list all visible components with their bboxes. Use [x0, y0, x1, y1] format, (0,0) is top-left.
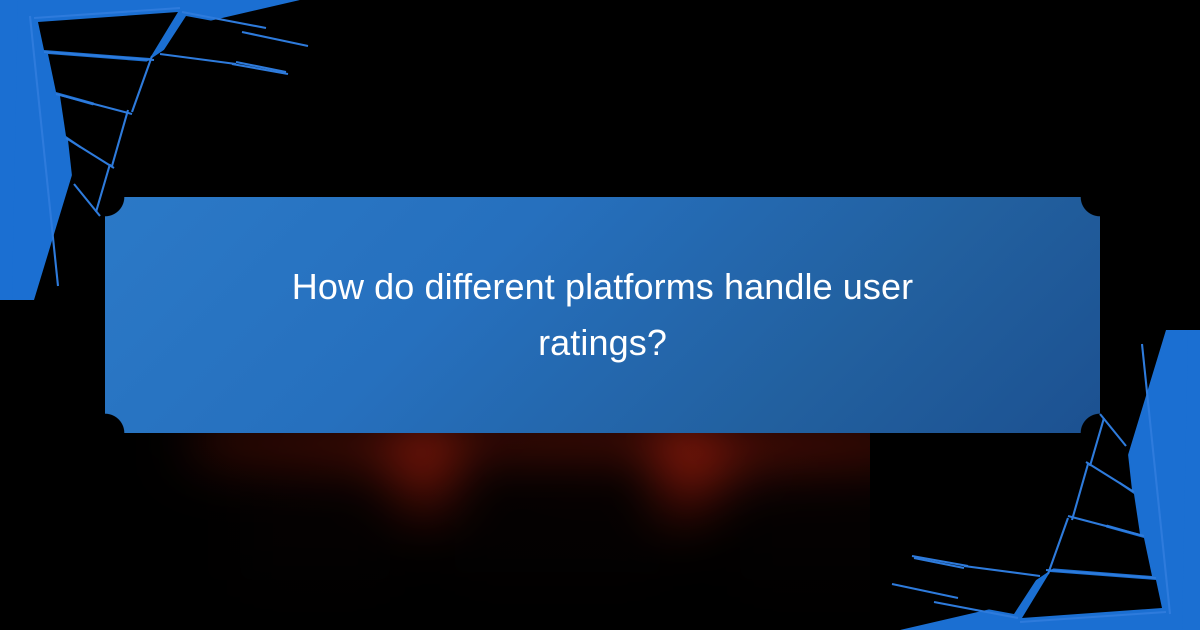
- question-card: How do different platforms handle user r…: [105, 197, 1100, 433]
- poster-canvas: How do different platforms handle user r…: [0, 0, 1200, 630]
- question-title: How do different platforms handle user r…: [229, 259, 977, 371]
